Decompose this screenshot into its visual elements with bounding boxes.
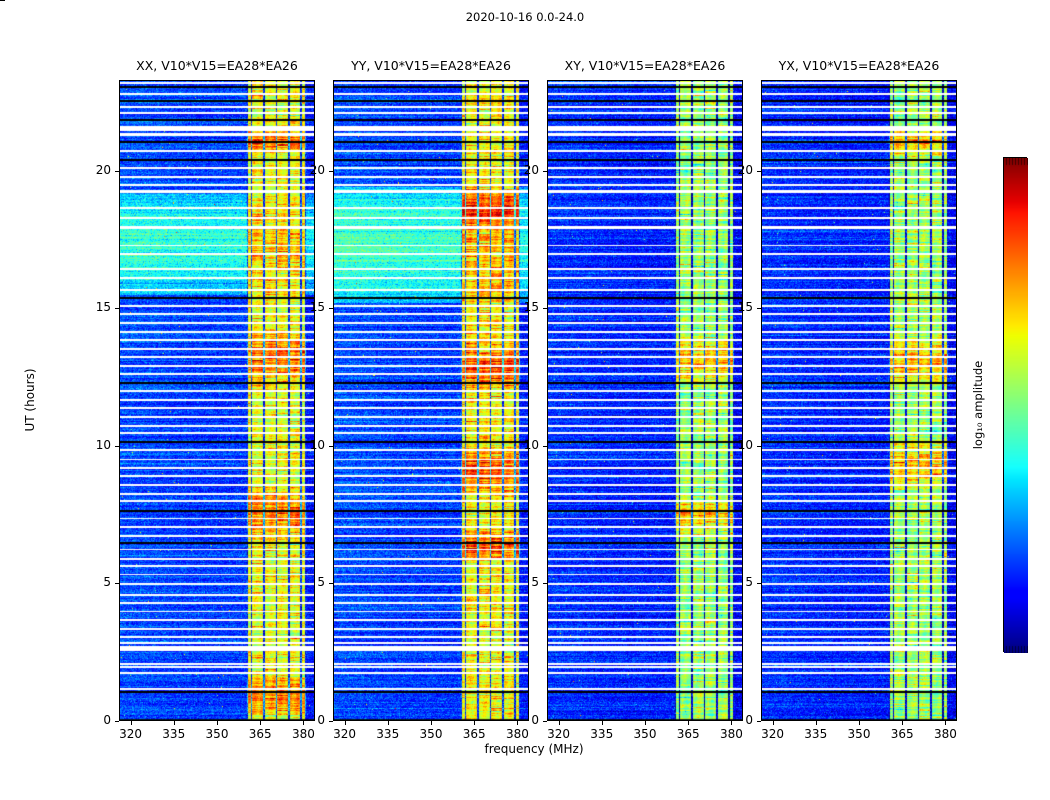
figure-suptitle: 2020-10-16 0.0-24.0: [0, 10, 1050, 24]
y-tick: [115, 308, 119, 309]
y-tick-label: 5: [713, 575, 753, 589]
y-tick: [329, 308, 333, 309]
y-tick-label: 15: [71, 300, 111, 314]
x-tick-label: 380: [920, 721, 970, 741]
y-tick-label: 10: [285, 438, 325, 452]
y-tick: [757, 721, 761, 722]
y-tick-label: 0: [71, 713, 111, 727]
colorbar-tick: [0, 0, 5, 1]
colorbar[interactable]: [1003, 157, 1027, 652]
y-tick-label: 15: [499, 300, 539, 314]
panel-title-xx: XX, V10*V15=EA28*EA26: [119, 58, 315, 73]
y-tick: [757, 171, 761, 172]
y-tick: [329, 171, 333, 172]
x-axis-label: frequency (MHz): [119, 742, 949, 756]
y-tick: [543, 446, 547, 447]
y-tick: [115, 721, 119, 722]
y-tick-label: 10: [71, 438, 111, 452]
colorbar-label: log₁₀ amplitude: [971, 361, 985, 450]
panel-title-yy: YY, V10*V15=EA28*EA26: [333, 58, 529, 73]
y-tick: [115, 171, 119, 172]
y-tick: [757, 583, 761, 584]
y-tick-label: 5: [499, 575, 539, 589]
y-tick: [543, 583, 547, 584]
y-tick: [329, 721, 333, 722]
y-tick-label: 0: [499, 713, 539, 727]
y-tick: [115, 446, 119, 447]
panel-frame: [761, 80, 957, 721]
y-tick: [329, 446, 333, 447]
y-tick-label: 20: [285, 163, 325, 177]
y-tick-label: 10: [499, 438, 539, 452]
y-tick-label: 15: [285, 300, 325, 314]
y-tick-label: 5: [285, 575, 325, 589]
y-tick: [757, 446, 761, 447]
y-tick-label: 15: [713, 300, 753, 314]
y-tick-label: 20: [71, 163, 111, 177]
y-axis-label: UT (hours): [23, 368, 37, 431]
y-tick: [543, 171, 547, 172]
panel-title-xy: XY, V10*V15=EA28*EA26: [547, 58, 743, 73]
y-tick-label: 0: [713, 713, 753, 727]
y-tick-label: 10: [713, 438, 753, 452]
y-tick-label: 20: [499, 163, 539, 177]
panel-title-yx: YX, V10*V15=EA28*EA26: [761, 58, 957, 73]
colorbar-gradient: [1004, 158, 1028, 653]
figure-canvas: 2020-10-16 0.0-24.0 UT (hours) XX, V10*V…: [0, 0, 1050, 800]
y-tick: [543, 308, 547, 309]
y-tick-label: 20: [713, 163, 753, 177]
y-tick: [543, 721, 547, 722]
y-tick: [115, 583, 119, 584]
y-tick: [329, 583, 333, 584]
y-tick-label: 0: [285, 713, 325, 727]
y-tick-label: 5: [71, 575, 111, 589]
panel-yx[interactable]: YX, V10*V15=EA28*EA263203353503653800510…: [761, 80, 957, 721]
y-tick: [757, 308, 761, 309]
